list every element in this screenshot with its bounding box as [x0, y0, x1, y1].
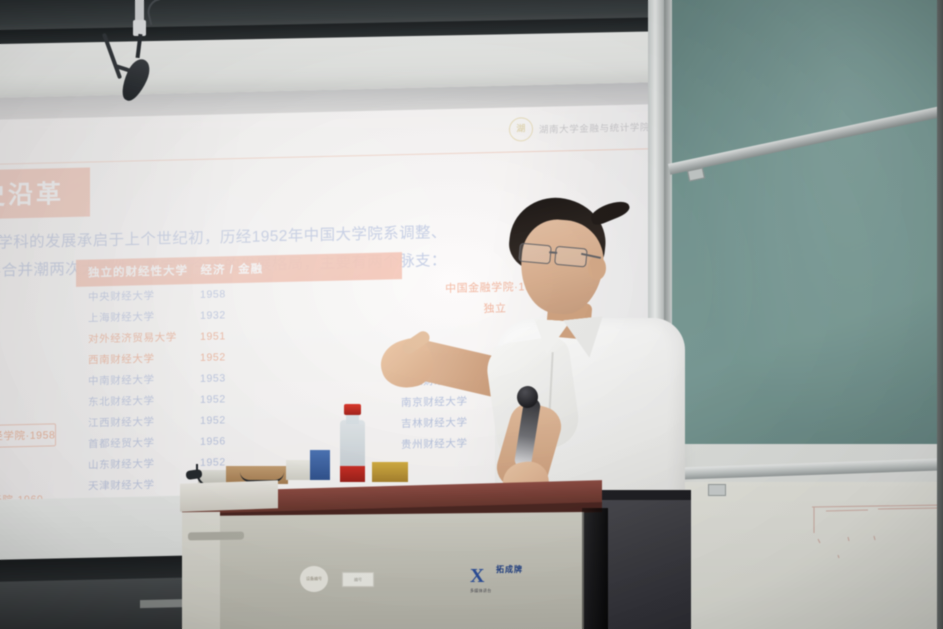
mic-arm: [136, 34, 143, 58]
ceiling-mic-capsule-icon: [117, 56, 154, 105]
cell-year: 1932: [200, 308, 262, 321]
cell-year: 1952: [200, 392, 262, 405]
lecture-podium: 设备编号 编号 X 拓成牌 多媒体讲台: [182, 486, 602, 629]
cell-year: 1956: [200, 434, 262, 447]
cell-note: 湖南财经学院·1958: [0, 427, 55, 444]
slide-logo-text: 湖南大学金融与统计学院: [539, 119, 650, 136]
blackboard-slide-rail-lower: [668, 458, 943, 480]
cell-university: 西南财经大学: [88, 350, 200, 368]
table-comprehensive-universities: 综合性大学 经济 / 金融 北京大学 1902 中国人民大学 1950 复旦大学: [0, 270, 56, 516]
eyeglass-lens-right: [554, 246, 588, 268]
university-seal-icon: 湖: [509, 117, 533, 142]
mic-mount: [135, 0, 144, 22]
slide-divider: [0, 148, 674, 169]
podium-front-panel: [196, 512, 584, 629]
cell-year: 1951: [200, 329, 262, 342]
mic-arm-secondary: [102, 33, 122, 79]
cell-university: 东北财经大学: [88, 392, 200, 410]
podium-brand-subtitle: 多媒体讲台: [470, 588, 492, 594]
brand-x-icon: X: [470, 566, 492, 586]
cell-university: 首都经贸大学: [88, 434, 200, 452]
podium-asset-sticker-square: 编号: [342, 572, 374, 587]
speaker-hair-tuft: [588, 197, 631, 227]
podium-side-panel: [182, 512, 220, 629]
water-bottle-label: [340, 466, 365, 482]
marker-scribble: [808, 499, 943, 559]
cell-year: 1952: [200, 350, 262, 363]
eyeglass-lens-left: [518, 243, 552, 265]
cell-university: 山东财经大学: [88, 455, 200, 473]
cell-year: 1958: [200, 287, 262, 300]
lecture-hall-photo: 湖 湖南大学金融与统计学院 历史沿革 中国经济、金融学科的发展承启于上个世纪初，…: [0, 0, 943, 629]
cell-university: 江西财经大学: [88, 413, 200, 431]
cell-university: 中央财经大学: [88, 287, 200, 305]
slide-logo: 湖 湖南大学金融与统计学院: [509, 114, 650, 141]
podium-left-plate: [180, 480, 278, 511]
cell-university: 对外经济贸易大学: [88, 329, 200, 347]
podium-brand-name: 拓成牌: [496, 564, 523, 575]
podium-side-vent: [188, 532, 244, 541]
podium-item-gold-box: [372, 462, 408, 482]
green-chalkboard: [672, 0, 943, 444]
cell-year: 1953: [200, 371, 262, 384]
cell-university: 上海财经大学: [88, 308, 200, 326]
blackboard-clip-lower: [708, 484, 726, 496]
podium-asset-sticker-round: 设备编号: [300, 566, 328, 592]
table-left-rows: 北京大学 1902 中国人民大学 1950 复旦大学 1917: [0, 297, 56, 516]
podium-item-blue-box: [310, 450, 330, 480]
blackboard-right-edge: [937, 0, 943, 629]
water-bottle-cap: [344, 404, 361, 415]
cell-university: 中南财经大学: [88, 371, 200, 389]
cell-year: 1952: [200, 413, 262, 426]
slide-title: 历史沿革: [0, 168, 90, 221]
podium-right-shadow: [582, 508, 608, 629]
ceiling-microphone: [103, 0, 173, 116]
